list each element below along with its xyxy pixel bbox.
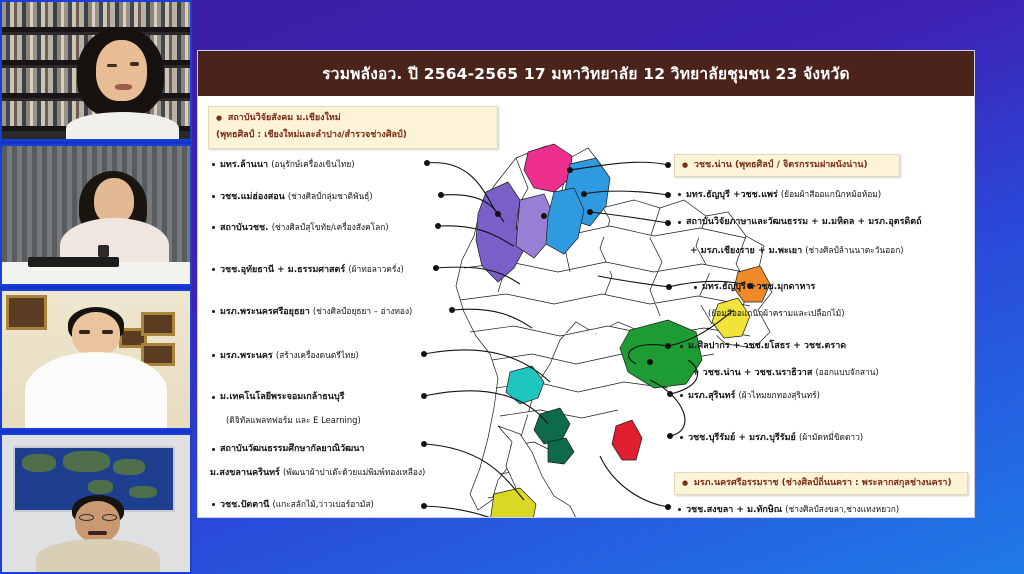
bullet-dot-icon [212,354,215,357]
bullet-dot-icon [212,268,215,271]
list-item[interactable]: วชช.อุทัยธานี + ม.ธรรมศาสตร์ (ผ้าทอลาวคร… [212,263,404,276]
bullet-dot-icon [212,503,215,506]
item-main: สถาบันวชช. [220,223,272,233]
item-sub: (ย้อมผ้าสีออแกนิกหม้อห้อม) [781,189,881,199]
list-item[interactable]: มทร.ธัญบุรี +วชช.แพร่ (ย้อมผ้าสีออแกนิกห… [678,188,881,201]
item-main: มทร.ธัญบุรี +วชช.แพร่ [686,190,781,200]
item-sub: (แกะสลักไม้,ว่าวเบอร์อามัส) [272,499,373,509]
highlight-line-1: ● สถาบันวิจัยสังคม ม.เชียงใหม่ [216,112,490,125]
item-main: ม.สงขลานครินทร์ [210,468,283,478]
item-sub: (ช่างศิลป์ล้านนาตะวันออก) [805,245,903,255]
bullet-dot-icon [678,193,681,196]
item-main: ม.ศิลปากร + วชช.ยโสธร + วชช.ตราด [688,341,846,351]
list-item[interactable]: ม.ศิลปากร + วชช.ยโสธร + วชช.ตราด [680,340,846,352]
highlight-line-1: ● มรภ.นครศรีอรรมราช (ช่างศิลป์ถิ่นนครา :… [682,477,960,490]
item-main: + วชช.น่าน + วชช.นราธิวาส [692,368,816,378]
bullet-dot-icon [212,396,215,399]
bullet-dot-icon [678,508,681,511]
bullet-dot-icon [680,394,683,397]
highlight-text-1: มรภ.นครศรีอรรมราช (ช่างศิลป์ถิ่นนครา : พ… [694,478,952,488]
list-item-continuation: ม.สงขลานครินทร์ (พัฒนาผ้าปาเต๊ะด้วยแม่พิ… [210,466,425,479]
list-item[interactable]: มรภ.สุรินทร์ (ผ้าไหมยกทองสุรินทร์) [680,389,820,402]
item-main: สถาบันวิจัยภาษาและวัฒนธรรม + ม.มหิดล + ม… [686,217,922,227]
list-item[interactable]: มรภ.พระนครศรีอยุธยา (ช่างศิลป์อยุธยา – อ… [212,305,412,318]
item-sub: (สร้างเครื่องดนตรีไทย) [276,350,359,360]
list-item-continuation: + มรภ.เชียงราย + ม.พะเยา (ช่างศิลป์ล้านน… [690,244,904,257]
list-item-continuation: (ดิจิทัลแพลทฟอร์ม และ E Learning) [226,414,361,427]
item-sub: (ช่างศิลป์กลุ่มชาติพันธุ์) [288,191,373,201]
item-sub: (ช่างศิลป์สุโขทัย/เครื่องสังคโลก) [272,222,389,232]
participant-3-video [2,291,190,428]
list-item[interactable]: วชช.ปัตตานี (แกะสลักไม้,ว่าวเบอร์อามัส) [212,498,374,511]
item-main: วชช.แม่ฮ่องสอน [220,192,288,202]
item-main: วชช.บุรีรัมย์ + มรภ.บุรีรัมย์ [688,433,799,443]
highlight-text-2: (พุทธศิลป์ : เชียงใหม่และลำปาง/สำรวจช่าง… [216,130,407,140]
list-item-continuation: (ย้อมสีออแกนิกผ้าครามและเปลือกไม้) [708,307,845,320]
item-main: วชช.อุทัยธานี + ม.ธรรมศาสตร์ [220,265,348,275]
item-main: มทร.ล้านนา [220,160,271,170]
item-main: สถาบันวัฒนธรรมศึกษากัลยาณิวัฒนา [220,444,364,454]
participant-1-video [2,2,190,139]
item-main: มรภ.พระนคร [220,351,276,361]
item-main: มทร.ธัญบุรี +วชช.มุกดาหาร [702,282,815,292]
list-item[interactable]: มทร.ธัญบุรี +วชช.มุกดาหาร [694,281,815,293]
screen: รวมพลังอว. ปี 2564-2565 17 มหาวิทยาลัย 1… [0,0,1024,574]
item-main: วชช.ปัตตานี [220,500,272,510]
list-item[interactable]: วชช.สงขลา + ม.ทักษิณ (ช่างศิลป์สงขลา,ช่า… [678,503,899,516]
item-sub: (ออกแบบจักสาน) [816,367,879,377]
highlight-text-1: สถาบันวิจัยสังคม ม.เชียงใหม่ [228,113,341,123]
participant-2-video [2,146,190,283]
item-sub: (ช่างศิลป์อยุธยา – อ่างทอง) [313,306,412,316]
bullet-dot-icon [680,345,683,348]
item-main: + มรภ.เชียงราย + ม.พะเยา [690,246,805,256]
highlight-box-nakhon-si-thammarat: ● มรภ.นครศรีอรรมราช (ช่างศิลป์ถิ่นนครา :… [674,472,968,495]
item-sub: (ช่างศิลป์สงขลา,ช่างแทงหยวก) [785,504,899,514]
participant-4-video [2,435,190,572]
presentation-slide: รวมพลังอว. ปี 2564-2565 17 มหาวิทยาลัย 1… [197,50,975,518]
bullet-dot-icon [212,448,215,451]
list-item-continuation: + วชช.น่าน + วชช.นราธิวาส (ออกแบบจักสาน) [692,366,879,379]
item-main: มรภ.สุรินทร์ [688,391,739,401]
list-item[interactable]: ม.เทคโนโลยีพระจอมเกล้าธนบุรี [212,391,345,403]
slide-body: ● สถาบันวิจัยสังคม ม.เชียงใหม่ (พุทธศิลป… [198,96,974,518]
list-item[interactable]: วชช.บุรีรัมย์ + มรภ.บุรีรัมย์ (ผ้ามัดหมี… [680,431,863,444]
bullet-dot-icon [212,226,215,229]
item-main: ม.เทคโนโลยีพระจอมเกล้าธนบุรี [220,392,345,402]
item-sub: (อนุรักษ์เครื่องเขินไทย) [271,159,354,169]
item-sub: (ผ้าไหมยกทองสุรินทร์) [739,390,820,400]
item-sub: (พัฒนาผ้าปาเต๊ะด้วยแม่พิมพ์ทองเหลือง) [283,467,425,477]
slide-title-bar: รวมพลังอว. ปี 2564-2565 17 มหาวิทยาลัย 1… [198,51,974,96]
item-sub: (ผ้าทอลาวครั่ง) [348,264,403,274]
highlight-box-chiang-mai: ● สถาบันวิจัยสังคม ม.เชียงใหม่ (พุทธศิลป… [208,106,498,149]
list-item[interactable]: สถาบันวัฒนธรรมศึกษากัลยาณิวัฒนา [212,443,364,455]
item-sub: (ย้อมสีออแกนิกผ้าครามและเปลือกไม้) [708,308,845,318]
list-item[interactable]: สถาบันวชช. (ช่างศิลป์สุโขทัย/เครื่องสังค… [212,221,389,234]
video-participant-rail [0,0,192,574]
highlight-text-1: วชช.น่าน (พุทธศิลป์ / จิตรกรรมฝาผนังน่าน… [694,160,868,170]
slide-title: รวมพลังอว. ปี 2564-2565 17 มหาวิทยาลัย 1… [322,61,849,86]
item-sub: (ดิจิทัลแพลทฟอร์ม และ E Learning) [226,415,361,425]
list-item[interactable]: สถาบันวิจัยภาษาและวัฒนธรรม + ม.มหิดล + ม… [678,216,922,228]
highlight-line-1: ● วชช.น่าน (พุทธศิลป์ / จิตรกรรมฝาผนังน่… [682,159,892,172]
bullet-dot-icon [694,286,697,289]
video-tile-participant-1[interactable] [0,0,192,141]
video-tile-participant-3[interactable] [0,289,192,430]
list-item[interactable]: มทร.ล้านนา (อนุรักษ์เครื่องเขินไทย) [212,158,355,171]
bullet-dot-icon [212,163,215,166]
item-main: มรภ.พระนครศรีอยุธยา [220,307,313,317]
bullet-dot-icon [678,221,681,224]
highlight-line-2: (พุทธศิลป์ : เชียงใหม่และลำปาง/สำรวจช่าง… [216,129,490,142]
list-item[interactable]: มรภ.พระนคร (สร้างเครื่องดนตรีไทย) [212,349,359,362]
bullet-dot-icon [680,436,683,439]
video-tile-participant-2[interactable] [0,144,192,285]
bullet-dot-icon [212,310,215,313]
item-sub: (ผ้ามัดหมี่ขิดดาว) [799,432,863,442]
highlight-box-nan: ● วชช.น่าน (พุทธศิลป์ / จิตรกรรมฝาผนังน่… [674,154,900,177]
video-tile-participant-4[interactable] [0,433,192,574]
item-main: วชช.สงขลา + ม.ทักษิณ [686,505,785,515]
bullet-dot-icon [212,195,215,198]
list-item[interactable]: วชช.แม่ฮ่องสอน (ช่างศิลป์กลุ่มชาติพันธุ์… [212,190,373,203]
